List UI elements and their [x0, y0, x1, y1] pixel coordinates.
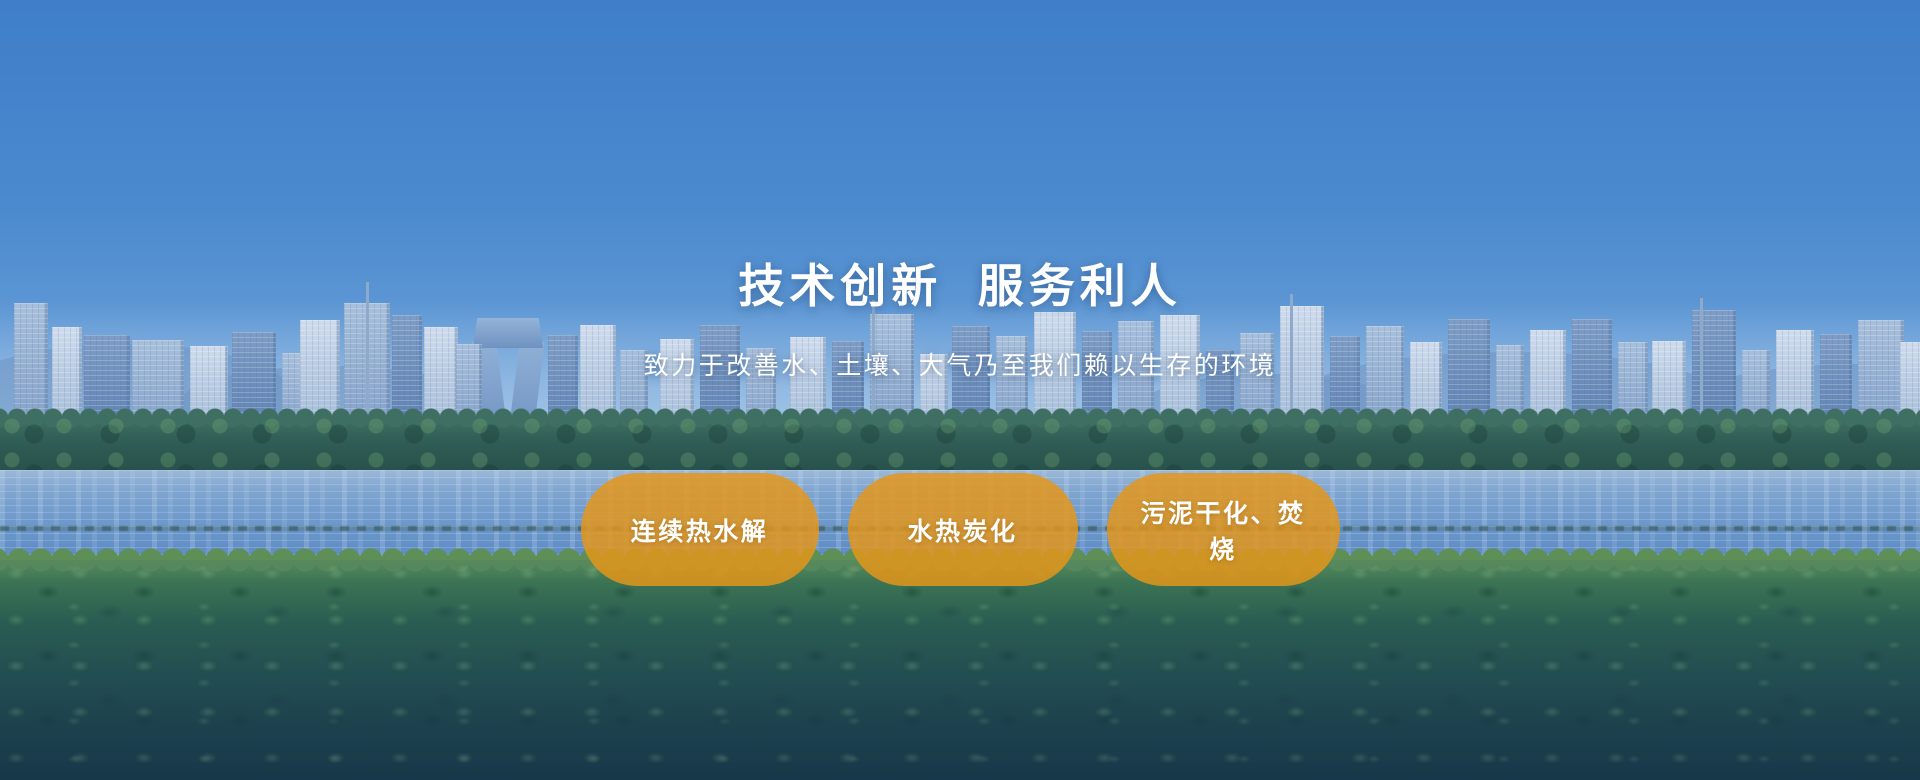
hero-button-continuous-thermal-hydrolysis[interactable]: 连续热水解	[581, 473, 819, 586]
hero-button-row: 连续热水解 水热炭化 污泥干化、焚烧	[0, 472, 1920, 587]
hero-title: 技术创新 服务利人	[0, 258, 1920, 314]
hero-button-hydrothermal-carbonization[interactable]: 水热炭化	[848, 473, 1078, 586]
hero-subtitle: 致力于改善水、土壤、大气乃至我们赖以生存的环境	[0, 350, 1920, 384]
hero-button-sludge-drying-incineration[interactable]: 污泥干化、焚烧	[1107, 473, 1340, 586]
hero-banner: 技术创新 服务利人 致力于改善水、土壤、大气乃至我们赖以生存的环境 连续热水解 …	[0, 0, 1920, 780]
hero-content: 技术创新 服务利人 致力于改善水、土壤、大气乃至我们赖以生存的环境 连续热水解 …	[0, 0, 1920, 780]
